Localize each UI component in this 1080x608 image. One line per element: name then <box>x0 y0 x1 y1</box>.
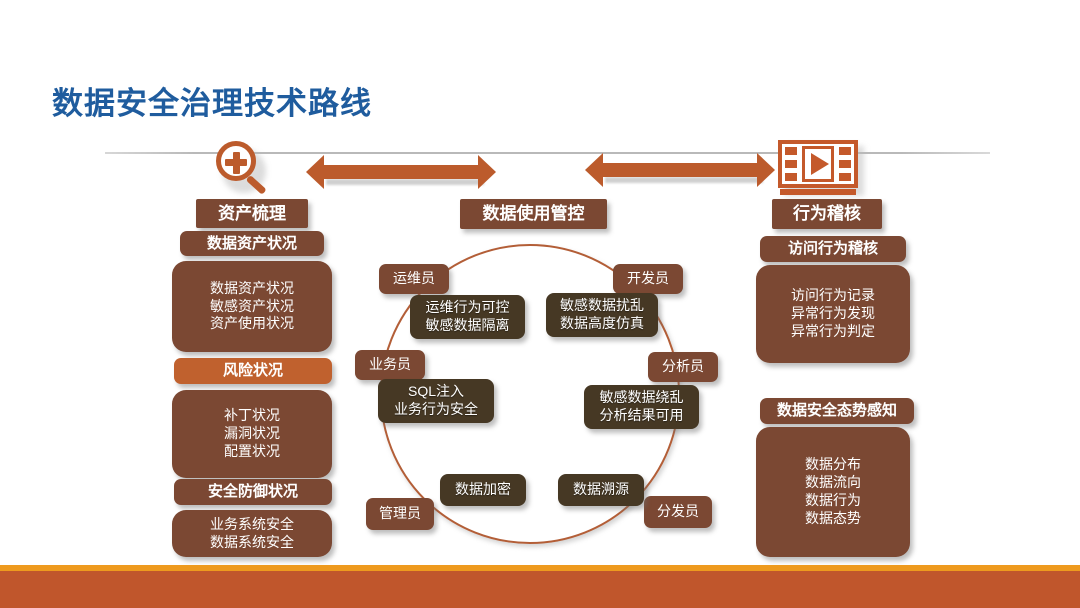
magnifier-plus-icon <box>212 141 274 201</box>
right-group-body-1: 访问行为记录 异常行为发现 异常行为判定 <box>756 265 910 363</box>
detail-ops-line-2: 敏感数据隔离 <box>410 317 525 335</box>
arrow-head-right <box>757 153 775 187</box>
left-group-2-item-1: 补丁状况 <box>172 407 332 425</box>
left-group-1-item-2: 敏感资产状况 <box>172 298 332 316</box>
right-group-1-item-1: 访问行为记录 <box>756 287 910 305</box>
right-group-1-item-2: 异常行为发现 <box>756 305 910 323</box>
detail-traceability-line-1: 数据溯源 <box>558 481 644 499</box>
left-group-title-3: 安全防御状况 <box>174 479 332 505</box>
right-group-2-item-4: 数据态势 <box>756 510 910 528</box>
center-column-header: 数据使用管控 <box>460 199 607 229</box>
role-tag-developer: 开发员 <box>613 264 683 294</box>
right-group-2-item-1: 数据分布 <box>756 456 910 474</box>
page-title: 数据安全治理技术路线 <box>52 78 372 123</box>
left-group-1-item-3: 资产使用状况 <box>172 315 332 333</box>
magnifier-handle <box>246 175 267 195</box>
film-perforation <box>839 160 851 168</box>
detail-box-traceability: 数据溯源 <box>558 474 644 506</box>
role-tag-analyst: 分析员 <box>648 352 718 382</box>
left-group-body-2: 补丁状况 漏洞状况 配置状况 <box>172 390 332 478</box>
detail-ops-line-1: 运维行为可控 <box>410 299 525 317</box>
detail-box-developer: 敏感数据扰乱 数据高度仿真 <box>546 293 658 337</box>
right-group-2-item-2: 数据流向 <box>756 474 910 492</box>
arrow-shadow <box>605 177 763 183</box>
left-group-1-item-1: 数据资产状况 <box>172 280 332 298</box>
detail-box-encryption: 数据加密 <box>440 474 526 506</box>
detail-analyst-line-1: 敏感数据绕乱 <box>584 389 699 407</box>
right-group-title-1: 访问行为稽核 <box>760 236 906 262</box>
left-group-title-1: 数据资产状况 <box>180 231 324 256</box>
detail-biz-line-2: 业务行为安全 <box>378 401 494 419</box>
arrow-shadow <box>326 179 484 185</box>
detail-encryption-line-1: 数据加密 <box>440 481 526 499</box>
left-group-3-item-1: 业务系统安全 <box>172 516 332 534</box>
left-group-title-2: 风险状况 <box>174 358 332 384</box>
detail-box-ops: 运维行为可控 敏感数据隔离 <box>410 295 525 339</box>
detail-biz-line-1: SQL注入 <box>378 383 494 401</box>
detail-analyst-line-2: 分析结果可用 <box>584 407 699 425</box>
film-perforation <box>785 160 797 168</box>
arrow-bar <box>322 165 480 179</box>
double-arrow-icon-left <box>306 155 496 189</box>
detail-box-business: SQL注入 业务行为安全 <box>378 379 494 423</box>
arrow-bar <box>601 163 759 177</box>
role-tag-ops: 运维员 <box>379 264 449 294</box>
arrow-head-right <box>478 155 496 189</box>
film-perforation <box>839 147 851 155</box>
left-group-body-3: 业务系统安全 数据系统安全 <box>172 510 332 557</box>
double-arrow-icon-right <box>585 153 775 187</box>
slide-canvas: 数据安全治理技术路线 资产梳理 数据资产状况 <box>0 0 1080 608</box>
right-group-2-item-3: 数据行为 <box>756 492 910 510</box>
left-column-header: 资产梳理 <box>196 199 308 228</box>
magnifier-plus-vertical <box>233 152 240 174</box>
left-group-body-1: 数据资产状况 敏感资产状况 资产使用状况 <box>172 261 332 352</box>
film-perforation <box>839 173 851 181</box>
detail-dev-line-1: 敏感数据扰乱 <box>546 297 658 315</box>
left-group-2-item-3: 配置状况 <box>172 443 332 461</box>
film-perforation <box>785 173 797 181</box>
right-group-title-2: 数据安全态势感知 <box>760 398 914 424</box>
footer-band <box>0 571 1080 608</box>
right-group-1-item-3: 异常行为判定 <box>756 323 910 341</box>
film-perforation <box>785 147 797 155</box>
detail-dev-line-2: 数据高度仿真 <box>546 315 658 333</box>
role-tag-business: 业务员 <box>355 350 425 380</box>
role-tag-admin: 管理员 <box>366 498 434 530</box>
film-play-icon <box>778 140 858 196</box>
film-base <box>780 189 856 195</box>
role-tag-distributor: 分发员 <box>644 496 712 528</box>
detail-box-analyst: 敏感数据绕乱 分析结果可用 <box>584 385 699 429</box>
left-group-2-item-2: 漏洞状况 <box>172 425 332 443</box>
play-triangle-icon <box>811 153 829 175</box>
right-group-body-2: 数据分布 数据流向 数据行为 数据态势 <box>756 427 910 557</box>
left-group-3-item-2: 数据系统安全 <box>172 534 332 552</box>
right-column-header: 行为稽核 <box>772 199 882 229</box>
